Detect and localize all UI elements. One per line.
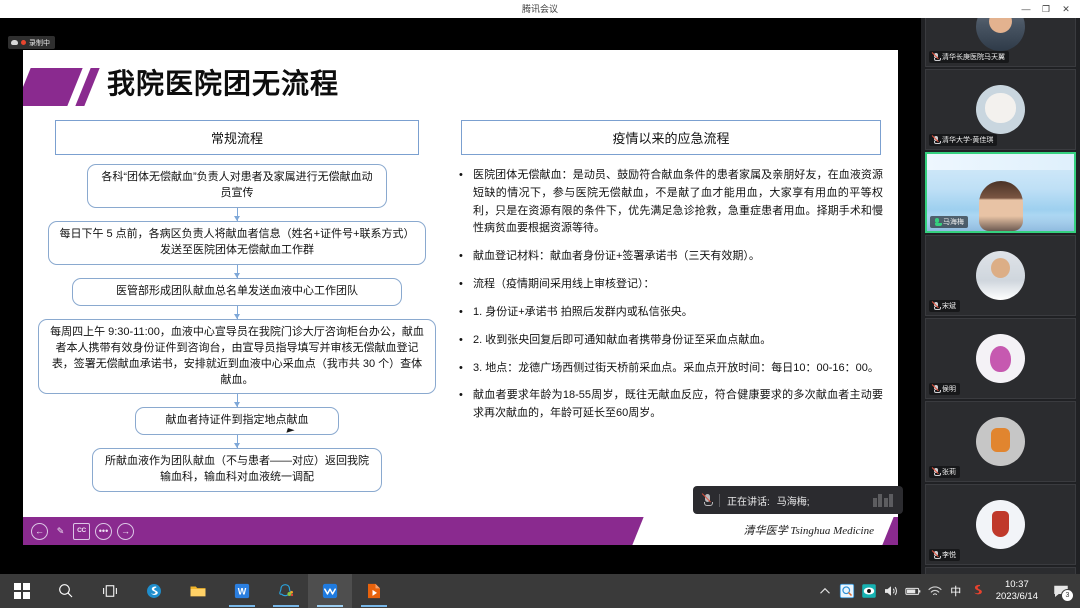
search-icon [57,582,75,600]
tencent-meeting-button[interactable] [308,574,352,608]
tray-antivirus-button[interactable] [836,574,858,608]
participant-nametag: 侯明 [929,383,960,395]
shield-scan-icon [838,582,856,600]
bullet-dot-icon: • [459,248,465,266]
battery-icon [904,582,922,600]
participant-name: 清华大学-黄佳琪 [942,135,993,145]
flow-step: 献血者持证件到指定地点献血 [135,407,339,435]
chevron-up-icon [816,582,834,600]
microphone-muted-icon [933,385,939,394]
participant-name: 侯明 [942,384,956,394]
slideshow-toolbar: ← ✎ CC ••• → [31,517,134,545]
right-column: 疫情以来的应急流程 • 医院团体无偿献血：是动员、鼓励符合献血条件的患者家属及亲… [455,120,887,433]
tray-eye-button[interactable] [858,574,880,608]
list-item: • 献血登记材料：献血者身份证+签署承诺书（三天有效期）。 [459,248,883,266]
divider [719,494,720,507]
captions-icon[interactable]: CC [73,523,90,540]
list-item-text: 献血登记材料：献血者身份证+签署承诺书（三天有效期）。 [473,248,883,266]
left-column: 常规流程 各科“团体无偿献血”负责人对患者及家属进行无偿献血动员宣传 每日下午 … [33,120,441,492]
tray-network-button[interactable] [924,574,946,608]
participant-tile[interactable]: 清华长庚医院马天翼 [925,18,1076,67]
wps-presentation-icon [365,582,383,600]
list-item: • 2. 收到张央回复后即可通知献血者携带身份证至采血点献血。 [459,332,883,350]
ime-indicator[interactable]: 中 [946,574,966,608]
microphone-muted-icon [933,136,939,145]
wifi-icon [926,582,944,600]
participant-name: 张莉 [942,467,956,477]
sogou-input-icon [968,582,986,600]
tray-battery-button[interactable] [902,574,924,608]
qq-button[interactable] [264,574,308,608]
wps-writer-icon: W [233,582,251,600]
minimize-button[interactable]: — [1016,0,1036,18]
recording-badge: 录制中 [8,36,55,49]
clock-date: 2023/6/14 [996,591,1038,603]
participant-name: 宋斌 [942,301,956,311]
list-item-text: 2. 收到张央回复后即可通知献血者携带身份证至采血点献血。 [473,332,883,350]
flow-step: 每周四上午 9:30-11:00，血液中心宣导员在我院门诊大厅咨询柜台办公，献血… [38,319,436,395]
flow-step: 所献血液作为团队献血（不与患者——对应）返回我院输血科，输血科对血液统一调配 [92,448,382,492]
start-button[interactable] [0,574,44,608]
video-banner [927,154,1074,170]
participant-tile[interactable]: 侯明 [925,318,1076,399]
flowchart: 各科“团体无偿献血”负责人对患者及家属进行无偿献血动员宣传 每日下午 5 点前，… [33,164,441,492]
tray-expand-button[interactable] [814,574,836,608]
tencent-meeting-icon [321,582,339,600]
flow-arrow-icon [237,208,238,221]
volume-icon [882,582,900,600]
list-item: • 1. 身份证+承诺书 拍照后发群内或私信张央。 [459,304,883,322]
slide-title-row: 我院医院团无流程 [23,50,898,112]
task-view-icon [101,582,119,600]
participant-tile[interactable] [925,567,1076,574]
tencent-meeting-window: 腾讯会议 — ❐ ✕ 录制中 我院医院团无流程 [0,0,1080,608]
task-view-button[interactable] [88,574,132,608]
list-item: • 流程（疫情期间采用线上审核登记）： [459,276,883,294]
accent-parallelogram-large-icon [23,68,83,106]
bullet-dot-icon: • [459,387,465,423]
right-column-header: 疫情以来的应急流程 [461,120,881,155]
windows-logo-icon [14,583,30,599]
list-item-text: 医院团体无偿献血：是动员、鼓励符合献血条件的患者家属及亲朋好友，在血液资源短缺的… [473,167,883,238]
window-title: 腾讯会议 [0,0,1080,18]
file-explorer-button[interactable] [176,574,220,608]
slide-footer: 清华医学 Tsinghua Medicine ← ✎ CC ••• → [23,517,898,545]
record-dot-icon [21,40,26,45]
list-item-text: 流程（疫情期间采用线上审核登记）： [473,276,883,294]
eye-icon [860,582,878,600]
taskbar-apps: W [0,574,396,608]
participant-tile[interactable]: 张莉 [925,401,1076,482]
next-slide-icon[interactable]: → [117,523,134,540]
window-titlebar: 腾讯会议 — ❐ ✕ [0,0,1080,18]
bullet-dot-icon: • [459,360,465,378]
presentation-slide: 我院医院团无流程 常规流程 各科“团体无偿献血”负责人对患者及家属进行无偿献血动… [23,50,898,545]
list-item: • 3. 地点：龙德广场西侧过街天桥前采血点。采血点开放时间：每日10：00-1… [459,360,883,378]
sogou-browser-button[interactable] [132,574,176,608]
speaking-name: 马海梅; [777,493,810,508]
microphone-active-icon [934,218,940,227]
cloud-icon [11,40,18,45]
participant-nametag: 清华长庚医院马天翼 [929,51,1009,63]
avatar [976,417,1025,466]
participant-tile-active-speaker[interactable]: 马海梅 [925,152,1076,233]
window-controls: — ❐ ✕ [1016,0,1076,18]
participant-nametag: 清华大学-黄佳琪 [929,134,997,146]
participant-tile[interactable]: 宋斌 [925,235,1076,316]
bullet-dot-icon: • [459,332,465,350]
flow-arrow-icon [237,265,238,278]
flow-step: 每日下午 5 点前，各病区负责人将献血者信息（姓名+证件号+联系方式）发送至医院… [48,221,426,265]
qq-icon [277,582,295,600]
avatar [976,500,1025,549]
maximize-button[interactable]: ❐ [1036,0,1056,18]
avatar [976,334,1025,383]
audio-wave-icon [873,494,894,507]
avatar [976,85,1025,134]
wps-writer-button[interactable]: W [220,574,264,608]
bullet-dot-icon: • [459,167,465,238]
microphone-muted-icon [933,551,939,560]
list-item-text: 献血者要求年龄为18-55周岁，既往无献血反应，符合健康要求的多次献血者主动要求… [473,387,883,423]
avatar [976,18,1025,51]
more-options-icon[interactable]: ••• [95,523,112,540]
footer-brand: 清华医学 Tsinghua Medicine [744,517,874,545]
previous-slide-icon[interactable]: ← [31,523,48,540]
microphone-muted-icon [933,53,939,62]
bullet-dot-icon: • [459,276,465,294]
list-item-text: 3. 地点：龙德广场西侧过街天桥前采血点。采血点开放时间：每日10：00-16：… [473,360,883,378]
list-item-text: 1. 身份证+承诺书 拍照后发群内或私信张央。 [473,304,883,322]
notification-badge: 3 [1061,589,1074,602]
microphone-muted-icon [933,468,939,477]
participant-tile[interactable]: 李悦 [925,484,1076,565]
participant-name: 李悦 [942,550,956,560]
close-button[interactable]: ✕ [1056,0,1076,18]
tray-volume-button[interactable] [880,574,902,608]
microphone-muted-icon [933,302,939,311]
flow-step: 各科“团体无偿献血”负责人对患者及家属进行无偿献血动员宣传 [87,164,387,208]
recording-label: 录制中 [29,38,50,48]
list-item: • 献血者要求年龄为18-55周岁，既往无献血反应，符合健康要求的多次献血者主动… [459,387,883,423]
flow-step: 医管部形成团队献血总名单发送血液中心工作团队 [72,278,402,306]
slide-title: 我院医院团无流程 [107,62,339,102]
clock[interactable]: 10:37 2023/6/14 [988,574,1046,608]
bullet-dot-icon: • [459,304,465,322]
clock-time: 10:37 [1005,579,1029,591]
participant-name: 清华长庚医院马天翼 [942,52,1005,62]
tray-sogou-input-button[interactable] [966,574,988,608]
participant-rail[interactable]: 清华长庚医院马天翼 清华大学-黄佳琪 马海梅 [921,18,1080,574]
microphone-muted-icon [703,494,712,507]
avatar [976,251,1025,300]
flow-arrow-icon [237,435,238,448]
speaking-label: 正在讲话: [727,493,770,508]
bullet-list: • 医院团体无偿献血：是动员、鼓励符合献血条件的患者家属及亲朋好友，在血液资源短… [455,167,887,423]
list-item: • 医院团体无偿献血：是动员、鼓励符合献血条件的患者家属及亲朋好友，在血液资源短… [459,167,883,238]
flow-arrow-icon [237,306,238,319]
participant-tile[interactable]: 清华大学-黄佳琪 [925,69,1076,150]
left-column-header: 常规流程 [55,120,419,155]
sogou-icon [145,582,163,600]
pen-icon[interactable]: ✎ [53,524,68,539]
participant-nametag: 李悦 [929,549,960,561]
shared-screen-stage: 录制中 我院医院团无流程 常规流程 各科“团体无偿献血”负责人对患者及家属进行无… [0,18,921,574]
participant-name: 马海梅 [943,217,964,227]
participant-nametag: 宋斌 [929,300,960,312]
participant-nametag: 张莉 [929,466,960,478]
notification-center-button[interactable]: 3 [1046,574,1076,608]
system-tray: 中 10:37 2023/6/14 3 [814,574,1080,608]
flow-arrow-icon [237,394,238,407]
folder-icon [189,582,207,600]
speaking-indicator: 正在讲话: 马海梅; [693,486,903,514]
windows-taskbar: W [0,574,1080,608]
video-person [979,181,1023,231]
search-button[interactable] [44,574,88,608]
svg-text:W: W [238,586,247,596]
meeting-body: 录制中 我院医院团无流程 常规流程 各科“团体无偿献血”负责人对患者及家属进行无… [0,18,1080,574]
wps-presentation-button[interactable] [352,574,396,608]
participant-nametag: 马海梅 [930,216,968,228]
